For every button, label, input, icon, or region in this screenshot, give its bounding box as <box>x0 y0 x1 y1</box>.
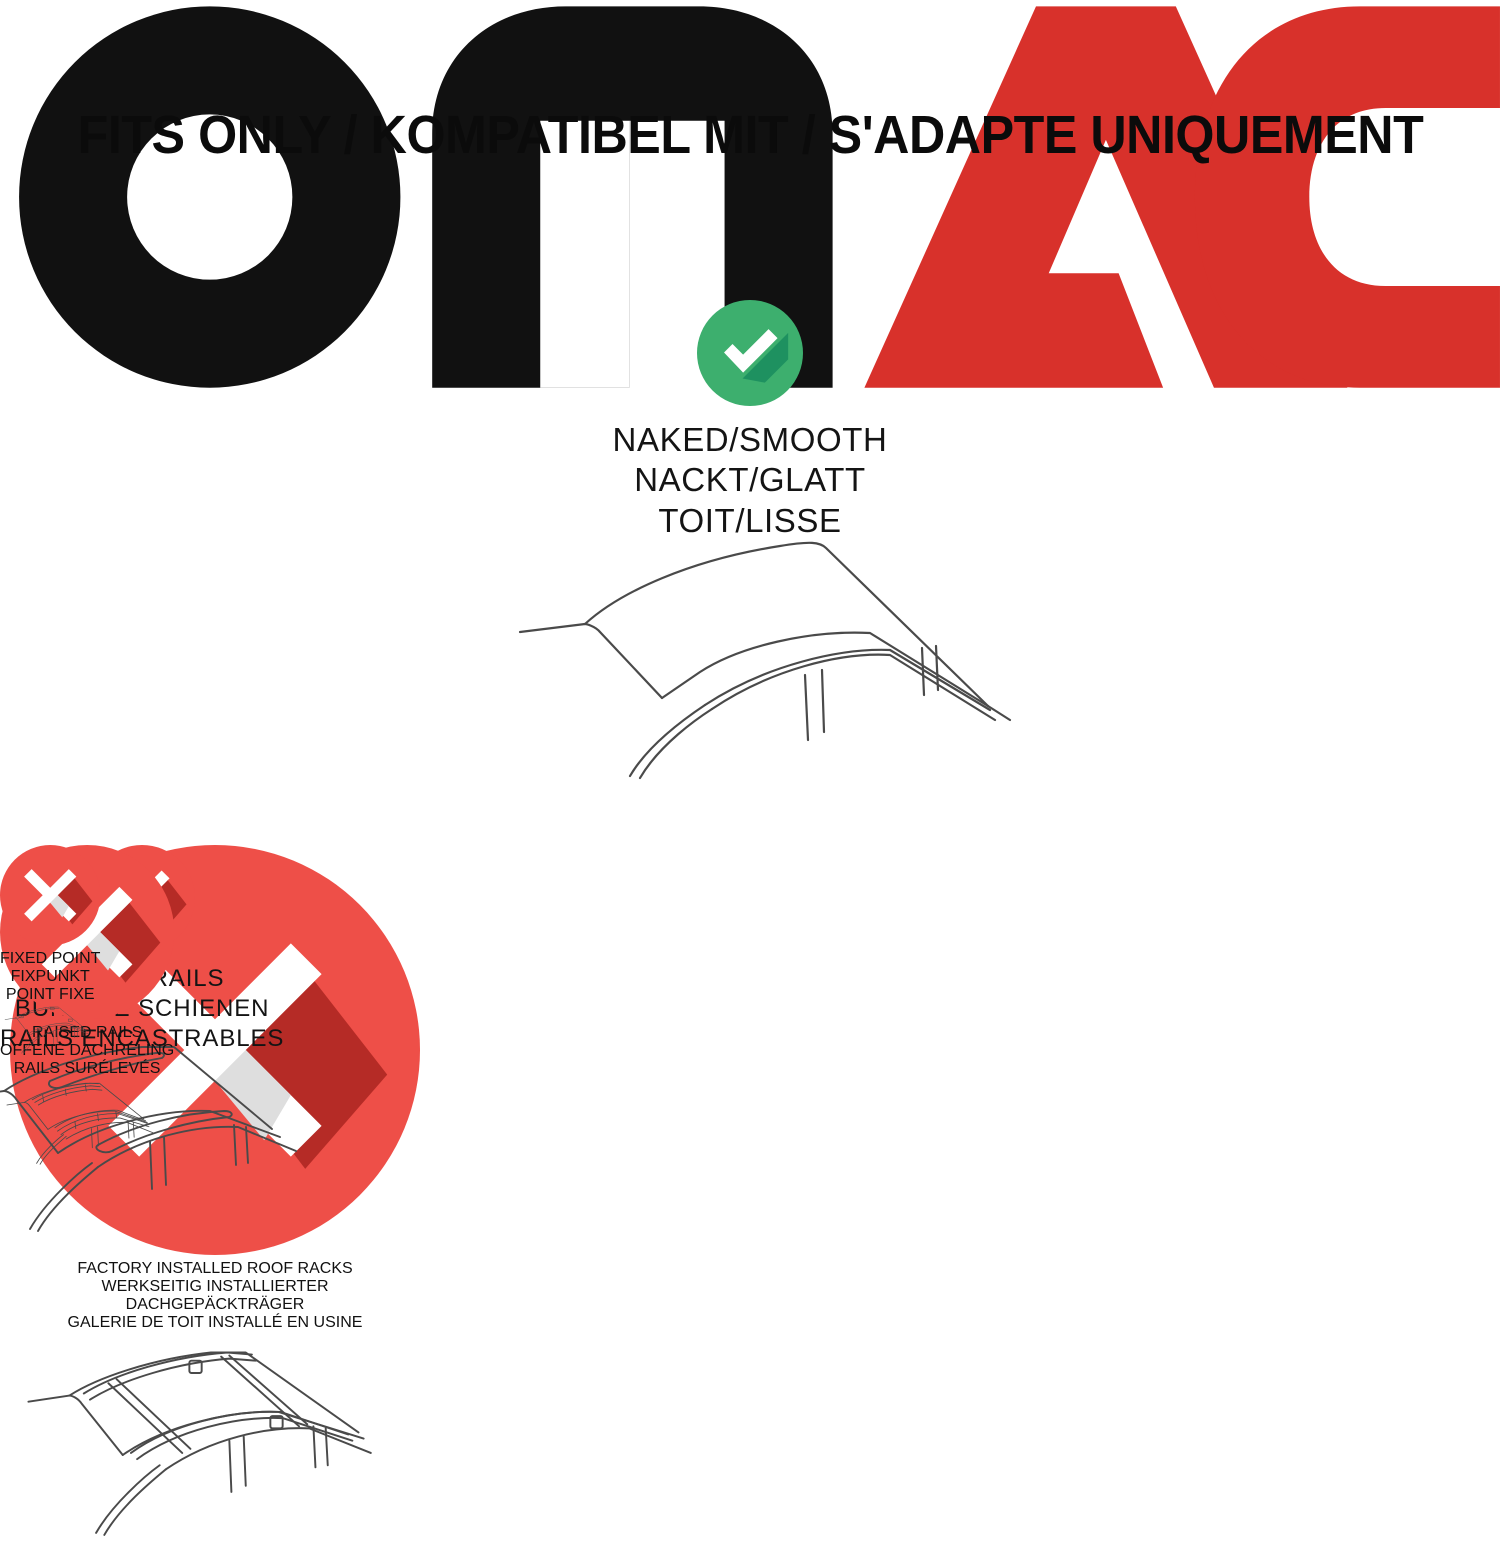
car-roof-factory-rack-illustration <box>10 1332 420 1552</box>
label-line-2: WERKSEITIG INSTALLIERTER <box>10 1278 420 1296</box>
incompatible-label-fixed-point: FIXED POINT FIXPUNKT POINT FIXE <box>0 950 100 1004</box>
compatible-label-line-2: NACKT/GLATT <box>450 460 1050 500</box>
fitment-guide-page: FITS ONLY / KOMPATIBEL MIT / S'ADAPTE UN… <box>0 0 1500 1500</box>
page-title-text: FITS ONLY / KOMPATIBEL MIT / S'ADAPTE UN… <box>77 104 1423 166</box>
label-line-3: DACHGEPÄCKTRÄGER <box>10 1296 420 1314</box>
car-roof-naked-smooth-illustration <box>490 520 1030 810</box>
car-roof-fixed-point-illustration <box>0 1004 100 1058</box>
page-title: FITS ONLY / KOMPATIBEL MIT / S'ADAPTE UN… <box>0 104 1500 166</box>
label-line-4: GALERIE DE TOIT INSTALLÉ EN USINE <box>10 1314 420 1332</box>
omac-logo-letter-o <box>19 6 400 387</box>
incompatible-item-fixed-point: FIXED POINT FIXPUNKT POINT FIXE <box>0 845 100 1063</box>
compatible-section: NAKED/SMOOTH NACKT/GLATT TOIT/LISSE <box>450 300 1050 541</box>
label-line-2: FIXPUNKT <box>0 968 100 986</box>
x-circle-icon <box>0 845 100 945</box>
label-line-1: FIXED POINT <box>0 950 100 968</box>
compatible-label-line-1: NAKED/SMOOTH <box>450 420 1050 460</box>
label-line-1: FACTORY INSTALLED ROOF RACKS <box>10 1260 420 1278</box>
incompatible-row: FACTORY INSTALLED ROOF RACKS WERKSEITIG … <box>0 845 1500 1315</box>
check-circle-icon <box>697 300 803 406</box>
incompatible-label-factory-rack: FACTORY INSTALLED ROOF RACKS WERKSEITIG … <box>10 1260 420 1332</box>
car-roof-raised-rails-illustration <box>0 1078 174 1172</box>
omac-logo-letter-c <box>1195 6 1500 387</box>
label-line-3: POINT FIXE <box>0 986 100 1004</box>
